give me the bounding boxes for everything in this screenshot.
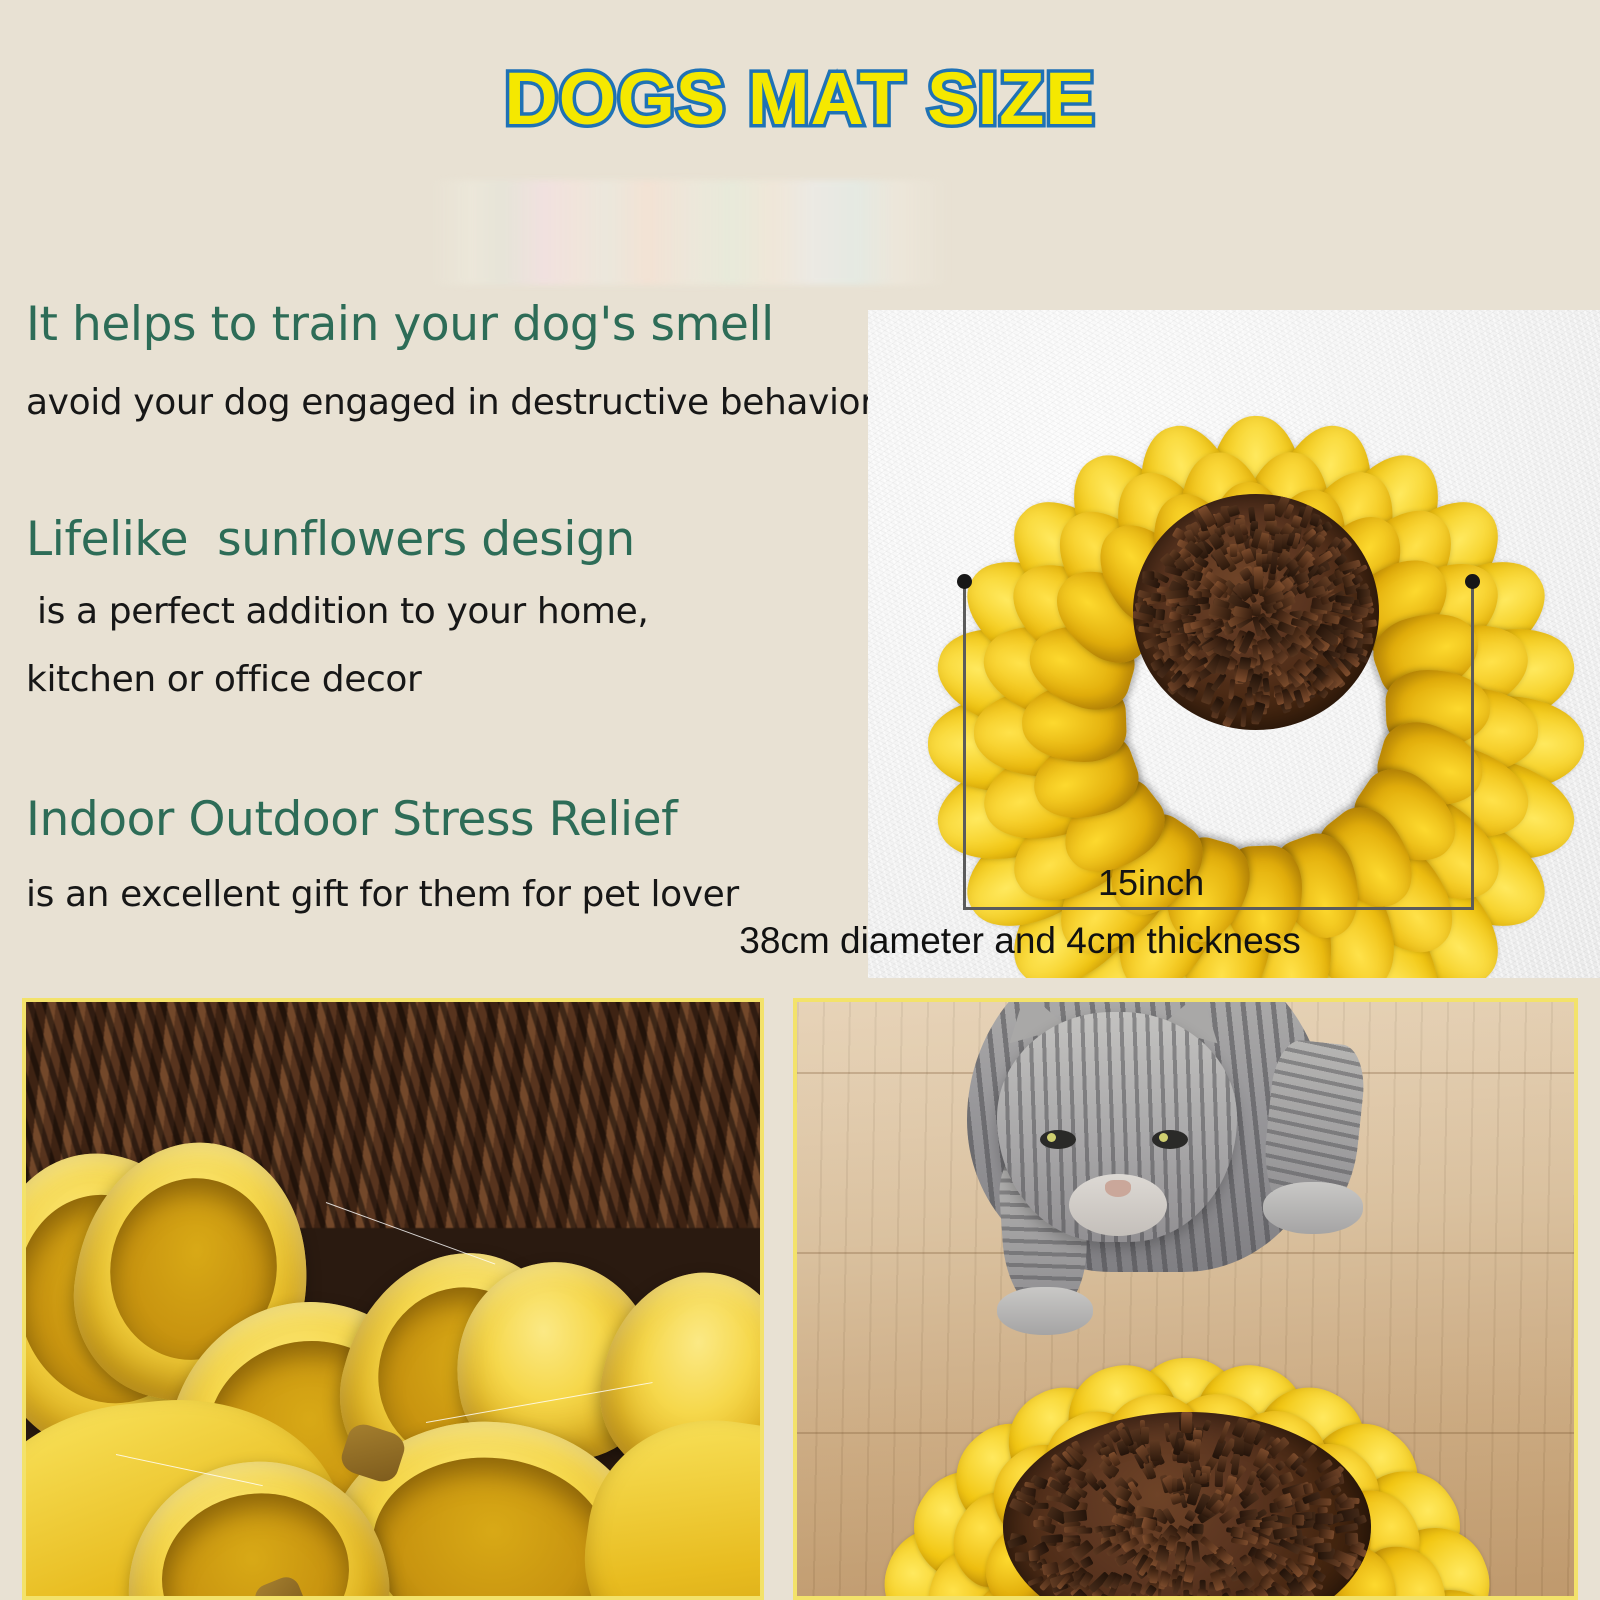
felt-nub <box>1247 687 1252 698</box>
felt-nub <box>1064 1510 1088 1523</box>
size-caption: 38cm diameter and 4cm thickness <box>0 920 1600 962</box>
felt-nub <box>1141 1427 1150 1444</box>
felt-nub <box>1202 1419 1212 1432</box>
feature-line-2-2: kitchen or office decor <box>26 660 836 700</box>
sunflower-mat-product <box>976 332 1536 892</box>
felt-nub <box>1211 672 1227 691</box>
feature-line-2-1: is a perfect addition to your home, <box>26 592 836 632</box>
felt-nub <box>1155 608 1165 620</box>
felt-nub <box>1363 619 1376 627</box>
dimension-line-left <box>963 580 966 910</box>
felt-nub <box>1196 1588 1208 1600</box>
feature-heading-3: Indoor Outdoor Stress Relief <box>26 795 836 844</box>
cat-with-mat-photo <box>793 998 1578 1600</box>
feature-line-3-1: is an excellent gift for them for pet lo… <box>26 875 836 915</box>
felt-nub <box>1183 1590 1190 1600</box>
felt-nub <box>1253 567 1262 590</box>
feature-heading-2: Lifelike sunflowers design <box>26 515 836 564</box>
felt-nub <box>1247 1471 1257 1486</box>
felt-nub <box>1256 553 1262 566</box>
felt-nub <box>1264 504 1275 521</box>
felt-nub <box>1127 1581 1142 1600</box>
feature-heading-1: It helps to train your dog's smell <box>26 300 836 349</box>
felt-nub <box>1318 1507 1328 1513</box>
felt-nub <box>1230 1526 1244 1538</box>
felt-nub <box>1314 1542 1332 1552</box>
dimension-line-right <box>1471 580 1474 910</box>
cat-eye-right <box>1152 1130 1188 1149</box>
felt-nub <box>1192 1524 1204 1534</box>
felt-nub <box>1228 1596 1235 1600</box>
compression-streak-artifact <box>430 180 950 285</box>
macro-scene <box>26 1002 760 1596</box>
cat-eye-left <box>1040 1130 1076 1149</box>
macro-petals-photo <box>22 998 764 1600</box>
felt-nub <box>1297 1553 1316 1566</box>
felt-nub <box>1033 1520 1044 1528</box>
felt-nub <box>1149 1439 1160 1460</box>
felt-nub <box>1191 1540 1201 1562</box>
felt-nub <box>1149 1569 1159 1584</box>
felt-nub <box>1230 544 1237 557</box>
felt-nub <box>1078 1528 1094 1534</box>
felt-nub <box>1241 707 1248 727</box>
cat-paw-right <box>1263 1182 1363 1234</box>
size-photo-panel: 15inch <box>868 310 1600 978</box>
felt-nub <box>1131 1528 1142 1535</box>
felt-nub <box>1181 1412 1193 1434</box>
felt-nub <box>1278 1472 1294 1486</box>
felt-nub <box>1193 591 1202 598</box>
felt-nub <box>1315 1514 1333 1525</box>
infographic-page: DOGS MAT SIZE It helps to train your dog… <box>0 0 1600 1600</box>
feature-copy-block: It helps to train your dog's smell avoid… <box>26 300 836 914</box>
cat-nose <box>1105 1180 1131 1197</box>
mat-center <box>1133 494 1379 730</box>
dimension-endpoint-dot-left <box>957 574 972 589</box>
page-title: DOGS MAT SIZE <box>504 62 1095 136</box>
dimension-label: 15inch <box>1098 862 1204 904</box>
felt-nub <box>1029 1550 1041 1562</box>
felt-nub <box>1292 1514 1304 1525</box>
felt-nub <box>1150 593 1161 603</box>
felt-nub <box>1262 677 1270 692</box>
feature-line-1-1: avoid your dog engaged in destructive be… <box>26 383 836 423</box>
felt-nub <box>1239 656 1251 670</box>
title-banner: DOGS MAT SIZE <box>0 62 1600 136</box>
dimension-endpoint-dot-right <box>1465 574 1480 589</box>
felt-nub <box>1345 1533 1358 1545</box>
felt-nub <box>1168 645 1181 657</box>
felt-nub <box>1193 1597 1205 1600</box>
dimension-line-bottom <box>963 907 1474 910</box>
